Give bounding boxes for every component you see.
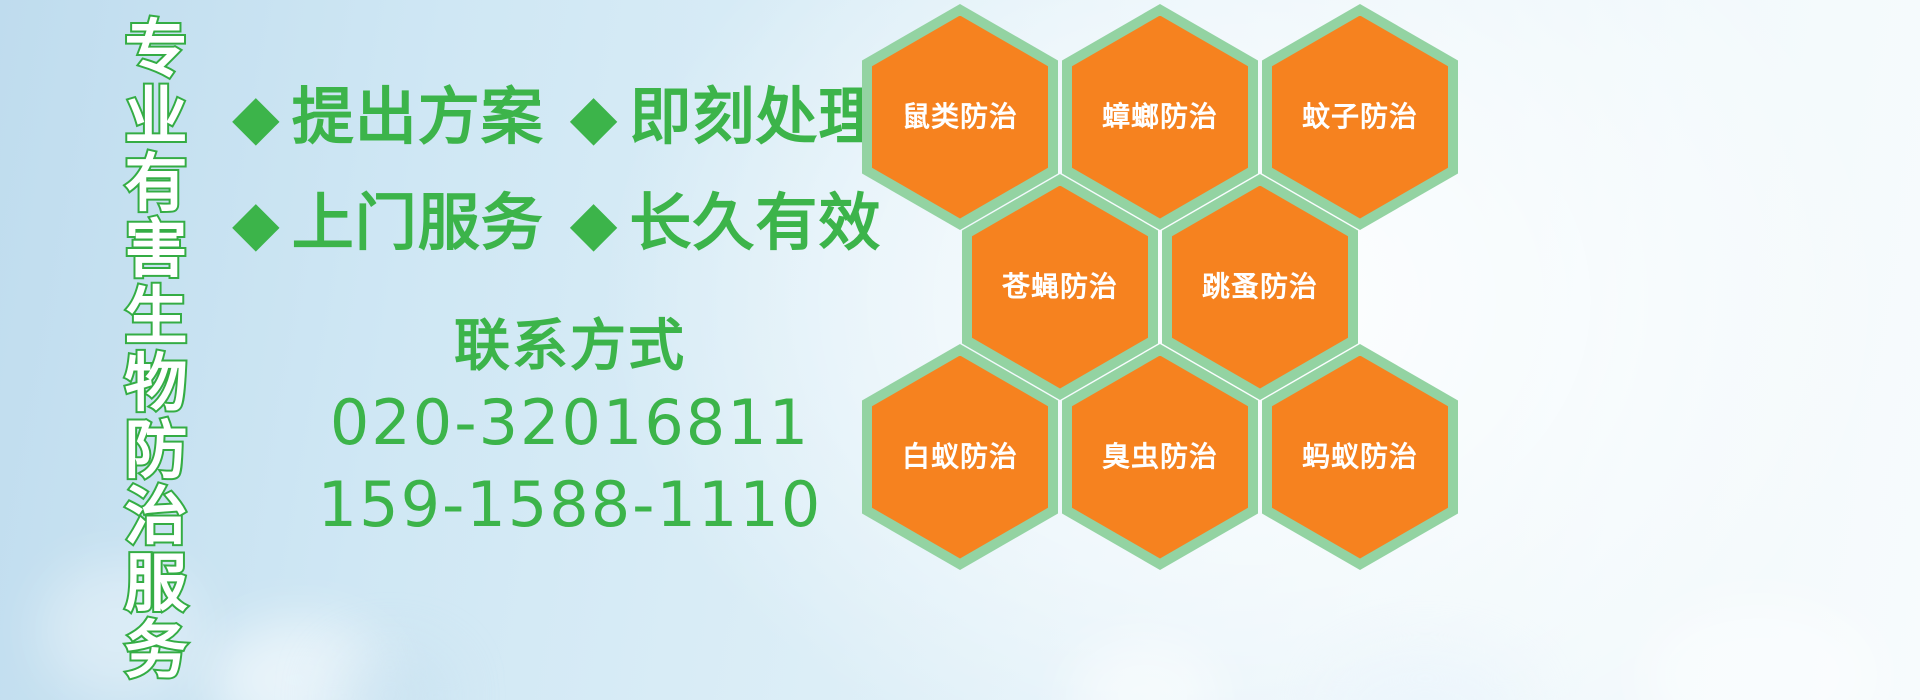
vertical-slogan-char: 物 <box>125 352 188 415</box>
vertical-slogan-char: 有 <box>125 152 188 215</box>
hex-inner: 蟑螂防治 <box>1072 16 1248 219</box>
hex-inner: 蚊子防治 <box>1272 16 1448 219</box>
contact-block: 联系方式 020-32016811 159-1588-1110 <box>300 312 840 546</box>
vertical-slogan-char: 专 <box>125 18 188 81</box>
service-hex-label: 蚂蚁防治 <box>1302 443 1418 471</box>
vertical-slogan-char: 业 <box>125 85 188 148</box>
hex-inner: 鼠类防治 <box>872 16 1048 219</box>
vertical-slogan-char: 治 <box>125 485 188 548</box>
service-hex-label: 臭虫防治 <box>1102 443 1218 471</box>
feature-row-2: ◆ 上门服务 ◆ 长久有效 <box>232 192 881 254</box>
service-hex-label: 跳蚤防治 <box>1202 273 1318 301</box>
feature-label-immediate-handling: 即刻处理 <box>629 86 881 148</box>
hex-inner: 白蚁防治 <box>872 356 1048 559</box>
contact-phone-mobile[interactable]: 159-1588-1110 <box>300 464 840 546</box>
diamond-bullet-icon: ◆ <box>232 192 280 254</box>
diamond-bullet-icon: ◆ <box>232 86 280 148</box>
service-honeycomb: 鼠类防治 蟑螂防治 蚊子防治 苍蝇防治 跳蚤防治 白蚁防治 <box>856 0 1476 700</box>
service-hex-label: 蚊子防治 <box>1302 103 1418 131</box>
bokeh-blob <box>330 650 450 700</box>
service-hex-label: 蟑螂防治 <box>1102 103 1218 131</box>
vertical-slogan-char: 服 <box>125 552 188 615</box>
feature-label-propose-plan: 提出方案 <box>292 86 544 148</box>
service-hex-label: 苍蝇防治 <box>1002 273 1118 301</box>
vertical-slogan-char: 务 <box>125 619 188 682</box>
vertical-slogan: 专 业 有 害 生 物 防 治 服 务 <box>108 18 204 682</box>
bokeh-blob <box>210 620 390 700</box>
diamond-bullet-icon: ◆ <box>570 86 618 148</box>
vertical-slogan-char: 害 <box>125 218 188 281</box>
contact-phone-landline[interactable]: 020-32016811 <box>300 382 840 464</box>
promo-banner: 专 业 有 害 生 物 防 治 服 务 ◆ 提出方案 ◆ 即刻处理 ◆ 上门服务… <box>0 0 1920 700</box>
diamond-bullet-icon: ◆ <box>570 192 618 254</box>
contact-title: 联系方式 <box>300 312 840 382</box>
service-hex-label: 鼠类防治 <box>902 103 1018 131</box>
vertical-slogan-char: 生 <box>125 285 188 348</box>
service-hex-label: 白蚁防治 <box>902 443 1018 471</box>
hex-inner: 苍蝇防治 <box>972 186 1148 389</box>
feature-label-long-lasting: 长久有效 <box>629 192 881 254</box>
bokeh-blob <box>1640 600 1880 700</box>
hex-inner: 蚂蚁防治 <box>1272 356 1448 559</box>
hex-inner: 跳蚤防治 <box>1172 186 1348 389</box>
feature-row-1: ◆ 提出方案 ◆ 即刻处理 <box>232 86 881 148</box>
vertical-slogan-char: 防 <box>125 419 188 482</box>
hex-inner: 臭虫防治 <box>1072 356 1248 559</box>
feature-label-onsite-service: 上门服务 <box>292 192 544 254</box>
